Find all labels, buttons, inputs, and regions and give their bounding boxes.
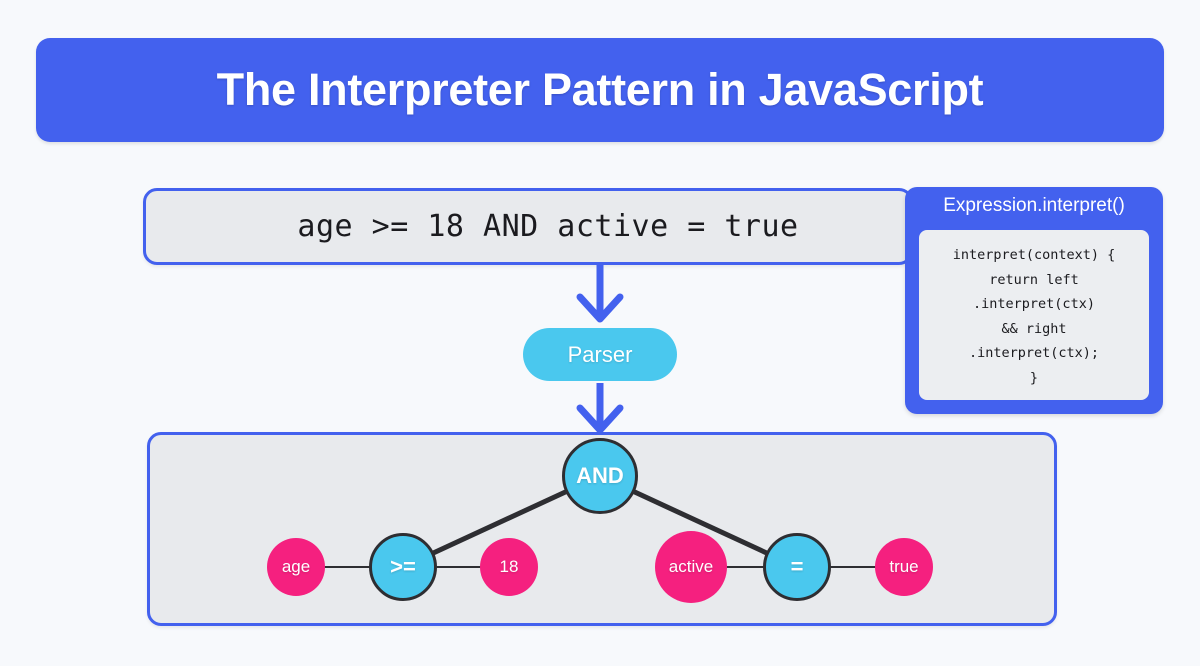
code-line: interpret(context) { (953, 243, 1116, 268)
diagram-canvas: The Interpreter Pattern in JavaScript ag… (0, 0, 1200, 666)
ast-node-18[interactable]: 18 (480, 538, 538, 596)
code-line: } (1030, 366, 1038, 391)
ast-node-true[interactable]: true (875, 538, 933, 596)
ast-node-and[interactable]: AND (562, 438, 638, 514)
ast-node-label: AND (576, 463, 624, 489)
code-line: && right (1001, 317, 1066, 342)
code-line: return left (989, 268, 1078, 293)
code-panel: Expression.interpret() interpret(context… (905, 187, 1163, 414)
ast-node-label: true (889, 557, 918, 577)
ast-node-gte[interactable]: >= (369, 533, 437, 601)
code-line: .interpret(ctx) (973, 292, 1095, 317)
ast-node-age[interactable]: age (267, 538, 325, 596)
ast-node-active[interactable]: active (655, 531, 727, 603)
code-panel-title: Expression.interpret() (905, 195, 1163, 217)
ast-node-label: = (791, 554, 804, 580)
ast-node-label: >= (390, 554, 416, 580)
ast-node-label: age (282, 557, 310, 577)
ast-node-label: 18 (500, 557, 519, 577)
ast-node-label: active (669, 557, 713, 577)
code-line: .interpret(ctx); (969, 341, 1099, 366)
ast-node-eq[interactable]: = (763, 533, 831, 601)
code-body: interpret(context) { return left .interp… (919, 230, 1149, 400)
